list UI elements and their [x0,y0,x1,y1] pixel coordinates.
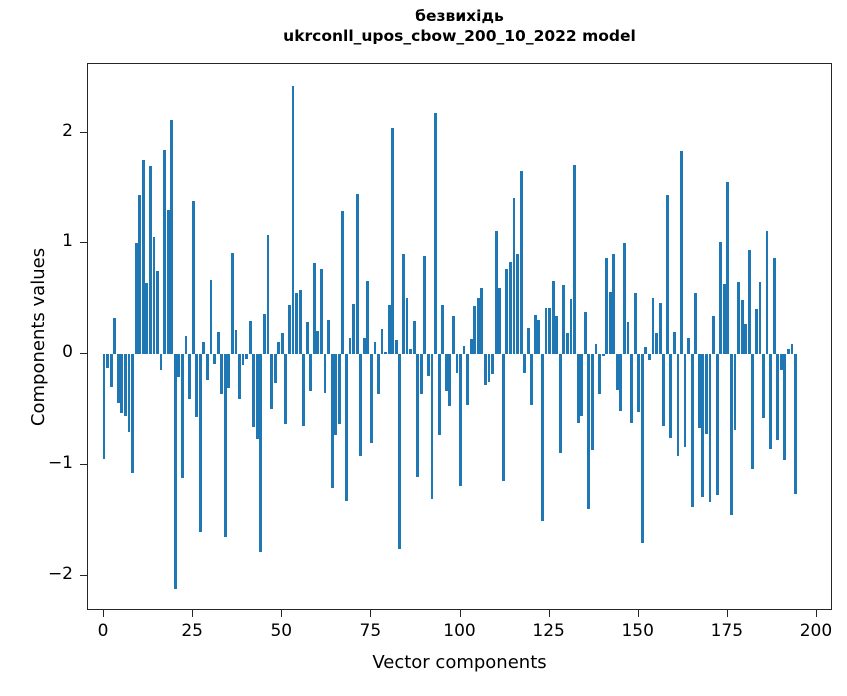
bar [274,354,277,383]
bar [759,282,762,354]
bar [773,258,776,354]
bar [302,354,305,426]
x-tick-label: 25 [152,621,232,641]
bar [687,338,690,355]
bar [741,300,744,354]
bar [502,354,505,481]
bar [495,231,498,354]
bar [698,354,701,428]
bar [459,354,462,486]
bar [299,290,302,354]
bar [562,285,565,354]
bar [334,354,337,435]
bar [309,354,312,391]
bar [577,354,580,423]
bar [666,195,669,354]
bar [349,338,352,355]
bar [281,333,284,354]
bar [192,201,195,354]
x-tick-mark [460,610,461,617]
x-axis-label: Vector components [87,652,832,673]
bar [103,354,106,459]
bar [366,281,369,354]
bar [120,354,123,413]
bar [356,194,359,355]
bar [630,354,633,423]
bar [709,354,712,502]
bar [505,269,508,354]
bar [559,354,562,453]
bar [341,211,344,354]
bar [206,354,209,379]
bar [641,354,644,543]
bar [231,253,234,354]
bar [780,354,783,370]
bar [124,354,127,416]
bar [249,321,252,354]
bar [791,344,794,354]
x-tick-label: 200 [776,621,847,641]
bar [552,281,555,354]
bar [292,86,295,354]
bar [648,354,651,360]
bar [509,262,512,354]
bar [320,269,323,354]
bar [295,293,298,354]
bar [516,254,519,354]
bar [145,283,148,354]
bar [787,349,790,355]
bar [345,354,348,501]
x-tick-mark [727,610,728,617]
bar [726,182,729,354]
bar [691,354,694,507]
bar [701,354,704,497]
bar [480,288,483,354]
y-tick-mark [80,242,87,243]
bar [160,354,163,370]
bar [227,354,230,388]
bar [441,305,444,354]
bar [463,346,466,354]
bar [113,318,116,355]
bar [616,354,619,389]
y-tick-mark [80,575,87,576]
bar [423,256,426,355]
bar [609,292,612,354]
bar [338,354,341,424]
bar [288,305,291,354]
bar [316,331,319,354]
x-tick-mark [192,610,193,617]
bar [156,271,159,354]
y-tick-label: −2 [48,566,73,583]
bar [548,308,551,355]
bar [284,354,287,424]
bar [712,316,715,354]
bar [202,342,205,354]
bar [655,333,658,354]
x-tick-mark [370,610,371,617]
y-tick-label: 0 [62,344,73,361]
bar [527,328,530,355]
bar [313,263,316,354]
bar [270,354,273,409]
x-tick-label: 125 [509,621,589,641]
bar [131,354,134,472]
bar [530,354,533,405]
x-tick-label: 100 [420,621,500,641]
bar [431,354,434,499]
bar [634,293,637,354]
bar [573,165,576,354]
bar [149,166,152,354]
y-tick-mark [80,464,87,465]
bar [388,305,391,354]
chart-title-line-1: безвихідь [87,6,832,26]
bar [181,354,184,478]
bar [199,354,202,532]
bar [587,354,590,509]
bar [794,354,797,494]
bar [644,347,647,354]
bar [652,298,655,354]
bar [602,354,605,356]
bar [167,210,170,354]
x-tick-mark [281,610,282,617]
bar [352,304,355,354]
bar [185,336,188,354]
y-tick-label: 2 [62,123,73,140]
bar [484,354,487,385]
bar [719,242,722,354]
bar [445,354,448,391]
bar [619,354,622,410]
bar [680,151,683,354]
bar [673,332,676,354]
bar [224,354,227,537]
bar [605,258,608,354]
bar [730,354,733,515]
bar [751,354,754,469]
bar [238,354,241,399]
bar [242,354,245,365]
bar [252,354,255,427]
bar [662,354,665,426]
bar [306,322,309,354]
bar [541,354,544,521]
bar [477,298,480,354]
x-tick-label: 150 [598,621,678,641]
bar [637,354,640,412]
bar [391,128,394,354]
bar [434,113,437,354]
bar [195,354,198,417]
bar [277,342,280,354]
bar [363,338,366,355]
bar [163,150,166,354]
bar [612,254,615,354]
bar [384,352,387,354]
bar [705,354,708,434]
x-tick-mark [638,610,639,617]
bar [420,354,423,394]
bar [413,321,416,354]
bar [456,354,459,373]
bar [142,160,145,354]
bar [128,354,131,432]
x-tick-mark [816,610,817,617]
bar [438,354,441,435]
bar [448,354,451,406]
bar [716,354,719,495]
bar [402,254,405,354]
bar [220,354,223,394]
bar [370,354,373,443]
bar [267,235,270,355]
bar [591,354,594,450]
bar [374,342,377,354]
x-tick-label: 75 [330,621,410,641]
bar [723,284,726,354]
chart-title: безвихідь ukrconll_upos_cbow_200_10_2022… [87,6,832,46]
bar [153,237,156,354]
bar [677,354,680,456]
bar [566,333,569,354]
bar [584,312,587,354]
bar [623,243,626,354]
bar [395,340,398,354]
bar [580,354,583,416]
bar [188,354,191,399]
bar [174,354,177,589]
bar [135,243,138,354]
bar [491,354,494,374]
bar [106,354,109,368]
bar [381,329,384,354]
bar [327,320,330,354]
y-tick-label: −1 [48,455,73,472]
bar [466,354,469,405]
bar [377,354,380,394]
y-tick-label: 1 [62,233,73,250]
bar [138,195,141,354]
bar [684,354,687,447]
bar [259,354,262,552]
bar [256,354,259,439]
bar [110,354,113,387]
bar [263,314,266,354]
matplotlib-figure: безвихідь ukrconll_upos_cbow_200_10_2022… [0,0,847,696]
bar [769,354,772,449]
bar [452,316,455,354]
bar [331,354,334,488]
bar [762,354,765,418]
bar [324,354,327,393]
bar [513,198,516,354]
x-tick-mark [549,610,550,617]
bar [170,120,173,354]
bar [748,250,751,354]
x-tick-label: 50 [241,621,321,641]
x-tick-label: 175 [687,621,767,641]
bar [659,303,662,354]
y-tick-mark [80,353,87,354]
bar [545,308,548,355]
bar [755,309,758,354]
bar [537,320,540,354]
bar [406,298,409,354]
bar [245,354,248,358]
bar [427,354,430,376]
bar [210,280,213,354]
bar [416,354,419,477]
bar [776,354,779,440]
y-tick-mark [80,132,87,133]
bar [470,339,473,355]
bar [595,344,598,354]
bar [744,324,747,354]
bar [473,306,476,354]
bar [737,282,740,354]
bar [523,354,526,373]
bar [694,293,697,354]
bar [598,354,601,394]
bar [488,354,491,382]
bar [217,332,220,354]
bar [235,330,238,354]
bar [359,354,362,456]
bar [734,354,737,430]
bar [520,171,523,354]
bar [409,349,412,355]
bar [766,231,769,354]
bar [555,316,558,354]
bar [627,322,630,354]
bar [398,354,401,549]
x-tick-label: 0 [63,621,143,641]
bar [534,315,537,354]
bar [570,299,573,354]
bar [177,354,180,377]
bar-series [88,64,831,609]
x-tick-mark [103,610,104,617]
bar [117,354,120,403]
bar [669,354,672,438]
plot-area [87,63,832,610]
y-axis-label: Components values [28,247,49,425]
bar [213,354,216,364]
chart-title-line-2: ukrconll_upos_cbow_200_10_2022 model [87,26,832,46]
bar [783,354,786,460]
bar [498,288,501,354]
